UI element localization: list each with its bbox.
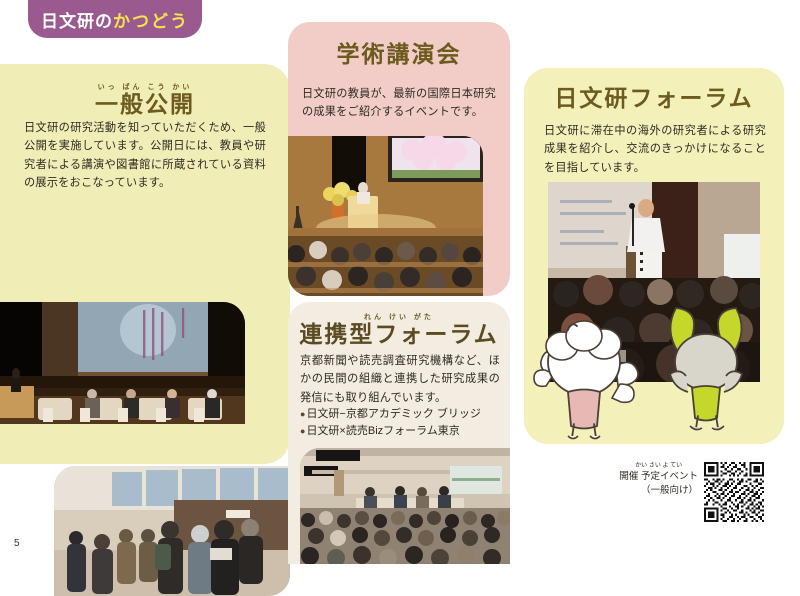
photo-forum-audience — [300, 448, 510, 564]
card-nichibunken-forum-heading: 日文研フォーラム — [524, 86, 784, 111]
card-gakujutsu-kouenkai-body: 日文研の教員が、最新の国際日本研究の成果をご紹介するイベントです。 — [302, 85, 496, 122]
card-renkeigata-forum-furigana: れん けい がた — [288, 314, 510, 321]
qr-caption-line1-ruby: かい さい よ てい 開催 予定イベント — [619, 470, 698, 484]
card-renkeigata-forum: れん けい がた 連携型フォーラム 京都新聞や読売調査研究機構など、ほかの民間の… — [288, 302, 510, 564]
mascot-gray-icon — [670, 308, 742, 430]
card-ippan-koukai-heading: いっ ぱん こう かい 一般公開 — [0, 84, 290, 117]
photo-panel-discussion-image — [0, 302, 245, 424]
photo-panel-discussion — [0, 302, 245, 424]
card-gakujutsu-kouenkai-title: 学術講演会 — [288, 42, 510, 67]
header-tab-label-primary: 日文研の — [41, 7, 113, 32]
header-tab-label-accent: かつどう — [113, 7, 189, 32]
qr-code-image[interactable] — [704, 462, 764, 522]
qr-caption-furigana: かい さい よ てい — [635, 463, 682, 469]
card-renkeigata-forum-body: 京都新聞や読売調査研究機構など、ほかの民間の組織と連携した研究成果の発信にも取り… — [300, 352, 500, 407]
list-item: ●日文研×読売Bizフォーラム東京 — [300, 423, 506, 440]
mascot-white-icon — [534, 321, 638, 439]
qr-caption-line2: （一般向け） — [598, 484, 698, 498]
card-ippan-koukai-body: 日文研の研究活動を知っていただくため、一般公開を実施しています。公開日には、教員… — [24, 119, 266, 193]
card-renkeigata-forum-bullet-list: ●日文研−京都アカデミック ブリッジ ●日文研×読売Bizフォーラム東京 — [300, 406, 506, 440]
card-gakujutsu-kouenkai: 学術講演会 日文研の教員が、最新の国際日本研究の成果をご紹介するイベントです。 — [288, 22, 510, 296]
card-gakujutsu-kouenkai-heading: 学術講演会 — [288, 42, 510, 67]
card-renkeigata-forum-heading: れん けい がた 連携型フォーラム — [288, 314, 510, 347]
list-item: ●日文研−京都アカデミック ブリッジ — [300, 406, 506, 423]
page-number: 5 — [14, 538, 20, 549]
bullet-dot-icon: ● — [300, 426, 305, 436]
list-item-label: 日文研−京都アカデミック ブリッジ — [306, 408, 480, 420]
qr-code-block[interactable]: かい さい よ てい 開催 予定イベント （一般向け） — [598, 462, 788, 524]
card-renkeigata-forum-title: 連携型フォーラム — [288, 322, 510, 347]
card-nichibunken-forum-title: 日文研フォーラム — [524, 86, 784, 111]
photo-lecture-hall-image — [288, 136, 483, 296]
card-ippan-koukai-furigana: いっ ぱん こう かい — [0, 84, 290, 91]
photo-lecture-hall — [288, 136, 483, 296]
card-nichibunken-forum-body: 日文研に滞在中の海外の研究者による研究成果を紹介し、交流のきっかけになることを目… — [544, 122, 766, 177]
mascot-characters — [524, 300, 784, 450]
photo-exhibition-visitors-image — [54, 466, 290, 596]
bullet-dot-icon: ● — [300, 409, 305, 419]
mascot-characters-illustration — [524, 300, 784, 450]
qr-caption-line1: 開催 予定イベント — [619, 471, 698, 482]
card-ippan-koukai-title: 一般公開 — [0, 92, 290, 117]
photo-forum-audience-image — [300, 448, 510, 564]
section-header-tab: 日文研の かつどう — [28, 0, 202, 38]
card-ippan-koukai: いっ ぱん こう かい 一般公開 日文研の研究活動を知っていただくため、一般公開… — [0, 64, 290, 464]
list-item-label: 日文研×読売Bizフォーラム東京 — [306, 425, 459, 437]
photo-exhibition-visitors — [54, 466, 290, 596]
brochure-page: 日文研の かつどう いっ ぱん こう かい 一般公開 日文研の研究活動を知ってい… — [0, 0, 800, 564]
qr-caption: かい さい よ てい 開催 予定イベント （一般向け） — [598, 470, 698, 499]
